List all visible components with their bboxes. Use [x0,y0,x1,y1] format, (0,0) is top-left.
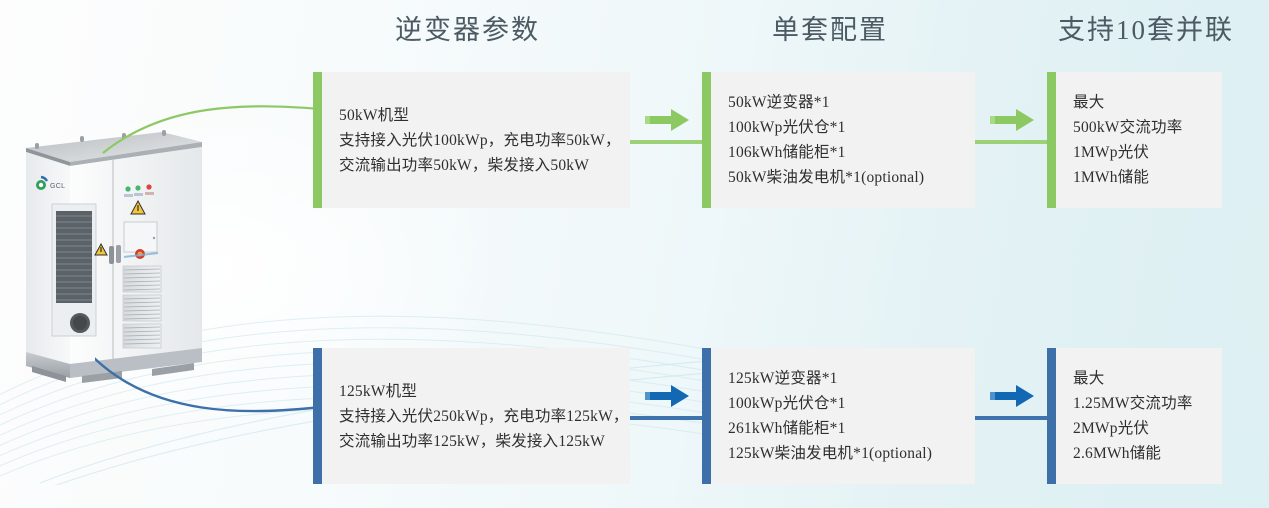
params-line: 交流输出功率125kW，柴发接入125kW [339,429,629,454]
parallel-line: 最大 [1073,90,1182,115]
parallel-line: 500kW交流功率 [1073,115,1182,140]
config-text-50kw: 50kW逆变器*1 100kWp光伏仓*1 106kWh储能柜*1 50kW柴油… [702,90,934,190]
config-line: 125kW逆变器*1 [728,366,932,391]
parallel-text-50kw: 最大 500kW交流功率 1MWp光伏 1MWh储能 [1047,90,1192,190]
parallel-line: 2.6MWh储能 [1073,441,1193,466]
rail-blue-2 [975,416,1047,420]
svg-text:GCL: GCL [50,183,65,190]
config-line: 50kW逆变器*1 [728,90,924,115]
column-heading-inverter-params: 逆变器参数 [395,8,540,47]
params-line: 50kW机型 [339,103,621,128]
accent-bar-blue [1047,348,1056,484]
rail-blue-1 [630,416,702,420]
params-text-50kw: 50kW机型 支持接入光伏100kWp，充电功率50kW， 交流输出功率50kW… [313,103,631,178]
accent-bar-blue [313,348,322,484]
config-line: 261kWh储能柜*1 [728,416,932,441]
config-line: 100kWp光伏仓*1 [728,391,932,416]
box-config-50kw: 50kW逆变器*1 100kWp光伏仓*1 106kWh储能柜*1 50kW柴油… [702,72,975,208]
product-cabinet-illustration: GCL [12,126,208,384]
accent-bar-green [1047,72,1056,208]
accent-bar-blue [702,348,711,484]
config-line: 50kW柴油发电机*1(optional) [728,165,924,190]
params-line: 支持接入光伏100kWp，充电功率50kW， [339,128,621,153]
rail-green-1 [630,140,702,144]
box-config-125kw: 125kW逆变器*1 100kWp光伏仓*1 261kWh储能柜*1 125kW… [702,348,975,484]
box-parallel-50kw: 最大 500kW交流功率 1MWp光伏 1MWh储能 [1047,72,1222,208]
config-line: 106kWh储能柜*1 [728,140,924,165]
arrow-right-green-2 [990,108,1034,132]
params-text-125kw: 125kW机型 支持接入光伏250kWp，充电功率125kW， 交流输出功率12… [313,379,639,454]
parallel-text-125kw: 最大 1.25MW交流功率 2MWp光伏 2.6MWh储能 [1047,366,1203,466]
box-params-125kw: 125kW机型 支持接入光伏250kWp，充电功率125kW， 交流输出功率12… [313,348,630,484]
accent-bar-green [313,72,322,208]
config-text-125kw: 125kW逆变器*1 100kWp光伏仓*1 261kWh储能柜*1 125kW… [702,366,942,466]
arrow-right-blue-2 [990,384,1034,408]
params-line: 125kW机型 [339,379,629,404]
parallel-line: 最大 [1073,366,1193,391]
arrow-right-green-1 [645,108,689,132]
config-line: 100kWp光伏仓*1 [728,115,924,140]
params-line: 交流输出功率50kW，柴发接入50kW [339,153,621,178]
rail-green-2 [975,140,1047,144]
box-params-50kw: 50kW机型 支持接入光伏100kWp，充电功率50kW， 交流输出功率50kW… [313,72,630,208]
parallel-line: 1.25MW交流功率 [1073,391,1193,416]
parallel-line: 1MWp光伏 [1073,140,1182,165]
parallel-line: 1MWh储能 [1073,165,1182,190]
column-heading-parallel-support: 支持10套并联 [1058,8,1234,47]
slide-canvas: 逆变器参数 单套配置 支持10套并联 [0,0,1269,508]
params-line: 支持接入光伏250kWp，充电功率125kW， [339,404,629,429]
arrow-right-blue-1 [645,384,689,408]
accent-bar-green [702,72,711,208]
column-heading-single-set-config: 单套配置 [772,8,888,47]
parallel-line: 2MWp光伏 [1073,416,1193,441]
config-line: 125kW柴油发电机*1(optional) [728,441,932,466]
box-parallel-125kw: 最大 1.25MW交流功率 2MWp光伏 2.6MWh储能 [1047,348,1222,484]
